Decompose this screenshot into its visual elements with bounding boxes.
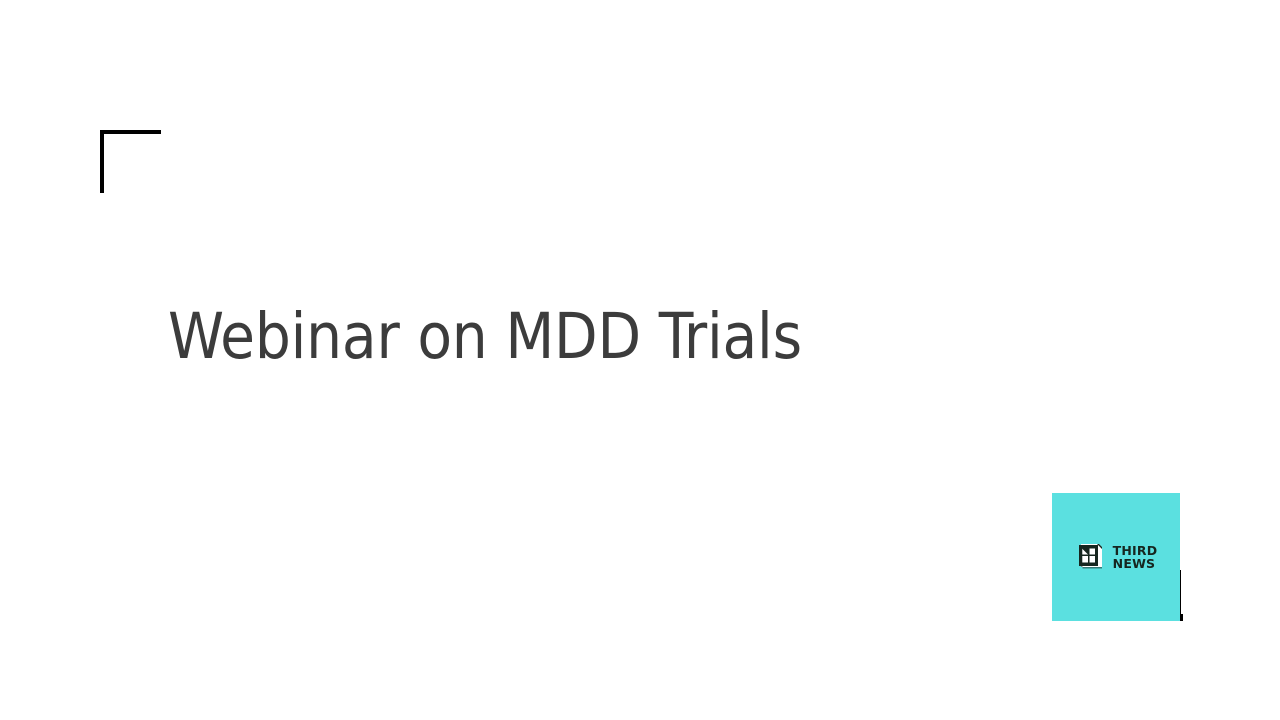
logo-block: THIRD NEWS — [1052, 493, 1183, 621]
logo-wordmark: THIRD NEWS — [1113, 544, 1158, 571]
corner-bracket-horizontal-bar — [100, 130, 161, 134]
title-slide: Webinar on MDD Trials — [0, 0, 1280, 720]
newspaper-window-icon — [1075, 541, 1107, 573]
corner-bracket-vertical-bar — [100, 130, 104, 193]
logo-lockup: THIRD NEWS — [1052, 493, 1180, 621]
logo-wordmark-line-1: THIRD — [1113, 544, 1158, 557]
slide-title: Webinar on MDD Trials — [168, 300, 1068, 374]
top-left-corner-bracket — [100, 130, 161, 193]
logo-wordmark-line-2: NEWS — [1113, 557, 1158, 570]
